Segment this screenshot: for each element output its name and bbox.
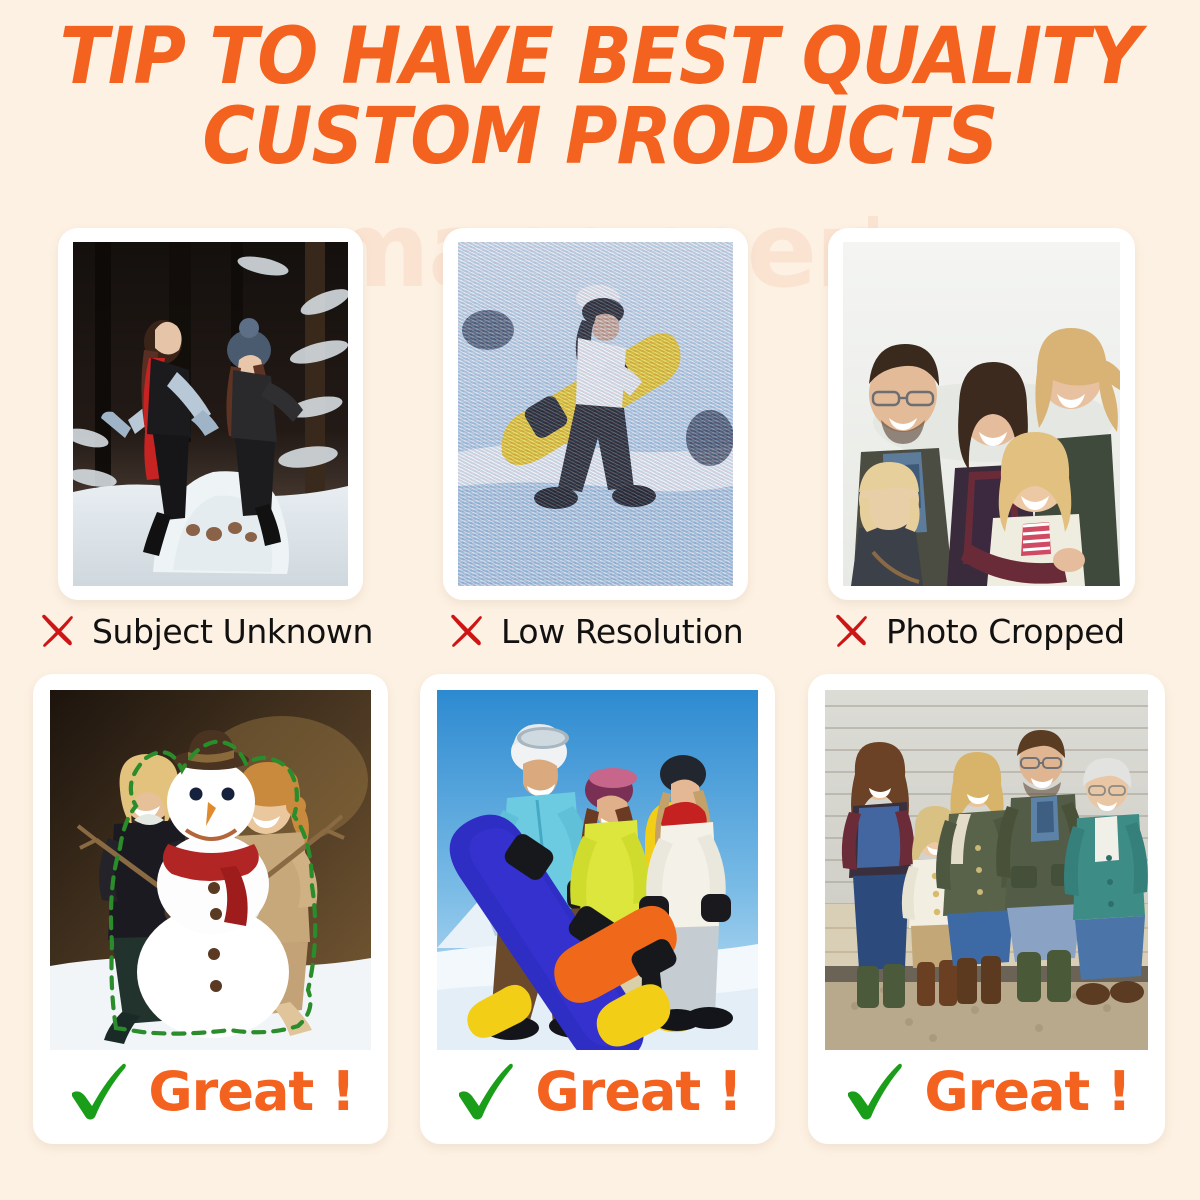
page-title: TIP TO HAVE BEST QUALITY CUSTOM PRODUCTS [48, 18, 1152, 177]
check-icon [842, 1059, 906, 1123]
photo-art-family-cropped [843, 242, 1120, 586]
card-photo-cropped[interactable] [828, 228, 1135, 600]
great-label: Great ! [924, 1060, 1130, 1123]
great-row: Great ! [420, 1052, 775, 1130]
caption-low-resolution: Low Resolution [445, 607, 743, 655]
photo-art-family-barn [825, 690, 1148, 1050]
caption-label: Low Resolution [501, 612, 743, 651]
caption-label: Photo Cropped [886, 612, 1125, 651]
card-good-snowman[interactable]: Great ! [33, 674, 388, 1144]
great-row: Great ! [33, 1052, 388, 1130]
caption-subject-unknown: Subject Unknown [36, 607, 373, 655]
cross-icon [830, 610, 872, 652]
card-good-snowboarders[interactable]: Great ! [420, 674, 775, 1144]
photo-good-family [825, 690, 1148, 1050]
card-low-resolution[interactable] [443, 228, 748, 600]
cross-icon [36, 610, 78, 652]
check-icon [66, 1059, 130, 1123]
title-line-1: TIP TO HAVE BEST QUALITY [60, 12, 1141, 102]
title-line-2: CUSTOM PRODUCTS [48, 98, 1152, 178]
caption-photo-cropped: Photo Cropped [830, 607, 1125, 655]
cross-icon [445, 610, 487, 652]
photo-good-snowman [50, 690, 371, 1050]
photo-subject-unknown [73, 242, 348, 586]
great-label: Great ! [535, 1060, 741, 1123]
photo-good-snowboarders [437, 690, 758, 1050]
photo-art-women-snowman-forest [73, 242, 348, 586]
pixelation-overlay-2 [458, 242, 733, 586]
card-subject-unknown[interactable] [58, 228, 363, 600]
great-label: Great ! [148, 1060, 354, 1123]
card-good-family[interactable]: Great ! [808, 674, 1165, 1144]
photo-art-three-snowboarders [437, 690, 758, 1050]
photo-photo-cropped [843, 242, 1120, 586]
great-row: Great ! [808, 1052, 1165, 1130]
photo-art-women-snowman [50, 690, 371, 1050]
photo-low-resolution [458, 242, 733, 586]
check-icon [453, 1059, 517, 1123]
caption-label: Subject Unknown [92, 612, 373, 651]
infographic-page: macorner TIP TO HAVE BEST QUALITY CUSTOM… [0, 0, 1200, 1200]
